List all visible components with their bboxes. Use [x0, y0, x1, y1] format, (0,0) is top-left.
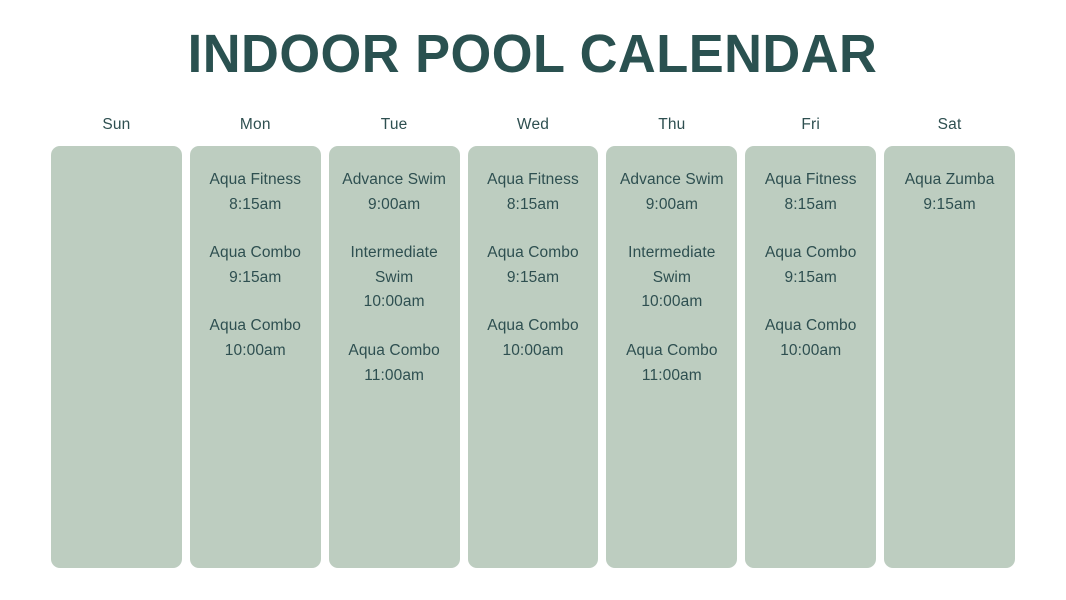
day-column-sun: Sun [51, 104, 182, 568]
event-name: Aqua Combo [196, 241, 315, 266]
event-name: Aqua Combo [751, 314, 870, 339]
event-name: Intermediate Swim [335, 241, 454, 290]
calendar-event[interactable]: Aqua Combo9:15am [751, 241, 870, 290]
event-name: Aqua Combo [474, 241, 593, 266]
calendar-event[interactable]: Advance Swim9:00am [612, 168, 731, 217]
event-name: Aqua Fitness [474, 168, 593, 193]
calendar-event[interactable]: Aqua Combo11:00am [335, 339, 454, 388]
day-column-mon: MonAqua Fitness8:15amAqua Combo9:15amAqu… [190, 104, 321, 568]
event-time: 10:00am [612, 290, 731, 315]
event-name: Aqua Combo [335, 339, 454, 364]
event-time: 8:15am [196, 193, 315, 218]
event-time: 9:15am [474, 266, 593, 291]
event-time: 9:15am [751, 266, 870, 291]
day-header-label: Wed [468, 104, 599, 146]
event-time: 8:15am [474, 193, 593, 218]
day-card[interactable]: Advance Swim9:00amIntermediate Swim10:00… [329, 146, 460, 568]
day-header-label: Tue [329, 104, 460, 146]
day-header-label: Thu [606, 104, 737, 146]
title-container: INDOOR POOL CALENDAR [0, 24, 1066, 84]
calendar-event[interactable]: Aqua Combo10:00am [196, 314, 315, 363]
day-column-fri: FriAqua Fitness8:15amAqua Combo9:15amAqu… [745, 104, 876, 568]
event-name: Advance Swim [612, 168, 731, 193]
calendar-event[interactable]: Aqua Combo9:15am [196, 241, 315, 290]
event-time: 9:00am [335, 193, 454, 218]
calendar-event[interactable]: Aqua Combo10:00am [474, 314, 593, 363]
day-card[interactable]: Aqua Zumba9:15am [884, 146, 1015, 568]
event-time: 10:00am [751, 339, 870, 364]
event-time: 8:15am [751, 193, 870, 218]
calendar-event[interactable]: Aqua Combo9:15am [474, 241, 593, 290]
event-time: 10:00am [474, 339, 593, 364]
day-header-label: Sat [884, 104, 1015, 146]
calendar-event[interactable]: Intermediate Swim10:00am [612, 241, 731, 315]
event-name: Aqua Combo [751, 241, 870, 266]
event-time: 9:15am [196, 266, 315, 291]
day-card[interactable]: Aqua Fitness8:15amAqua Combo9:15amAqua C… [468, 146, 599, 568]
event-time: 10:00am [196, 339, 315, 364]
weekly-calendar-grid: SunMonAqua Fitness8:15amAqua Combo9:15am… [51, 104, 1015, 568]
event-name: Aqua Fitness [751, 168, 870, 193]
calendar-page: INDOOR POOL CALENDAR SunMonAqua Fitness8… [0, 0, 1066, 600]
calendar-event[interactable]: Advance Swim9:00am [335, 168, 454, 217]
event-name: Aqua Zumba [890, 168, 1009, 193]
event-name: Aqua Combo [474, 314, 593, 339]
day-card[interactable]: Advance Swim9:00amIntermediate Swim10:00… [606, 146, 737, 568]
day-card[interactable]: Aqua Fitness8:15amAqua Combo9:15amAqua C… [190, 146, 321, 568]
day-column-thu: ThuAdvance Swim9:00amIntermediate Swim10… [606, 104, 737, 568]
event-name: Aqua Combo [612, 339, 731, 364]
event-time: 9:00am [612, 193, 731, 218]
calendar-event[interactable]: Aqua Fitness8:15am [196, 168, 315, 217]
event-time: 10:00am [335, 290, 454, 315]
calendar-event[interactable]: Aqua Zumba9:15am [890, 168, 1009, 217]
day-header-label: Fri [745, 104, 876, 146]
day-column-tue: TueAdvance Swim9:00amIntermediate Swim10… [329, 104, 460, 568]
day-card[interactable]: Aqua Fitness8:15amAqua Combo9:15amAqua C… [745, 146, 876, 568]
day-column-wed: WedAqua Fitness8:15amAqua Combo9:15amAqu… [468, 104, 599, 568]
calendar-event[interactable]: Aqua Combo11:00am [612, 339, 731, 388]
calendar-event[interactable]: Aqua Fitness8:15am [474, 168, 593, 217]
event-name: Aqua Combo [196, 314, 315, 339]
day-column-sat: SatAqua Zumba9:15am [884, 104, 1015, 568]
day-header-label: Sun [51, 104, 182, 146]
calendar-event[interactable]: Aqua Fitness8:15am [751, 168, 870, 217]
event-time: 11:00am [335, 364, 454, 389]
day-card[interactable] [51, 146, 182, 568]
event-time: 9:15am [890, 193, 1009, 218]
event-name: Intermediate Swim [612, 241, 731, 290]
calendar-event[interactable]: Aqua Combo10:00am [751, 314, 870, 363]
page-title: INDOOR POOL CALENDAR [188, 24, 878, 84]
day-header-label: Mon [190, 104, 321, 146]
event-name: Advance Swim [335, 168, 454, 193]
event-time: 11:00am [612, 364, 731, 389]
event-name: Aqua Fitness [196, 168, 315, 193]
calendar-event[interactable]: Intermediate Swim10:00am [335, 241, 454, 315]
